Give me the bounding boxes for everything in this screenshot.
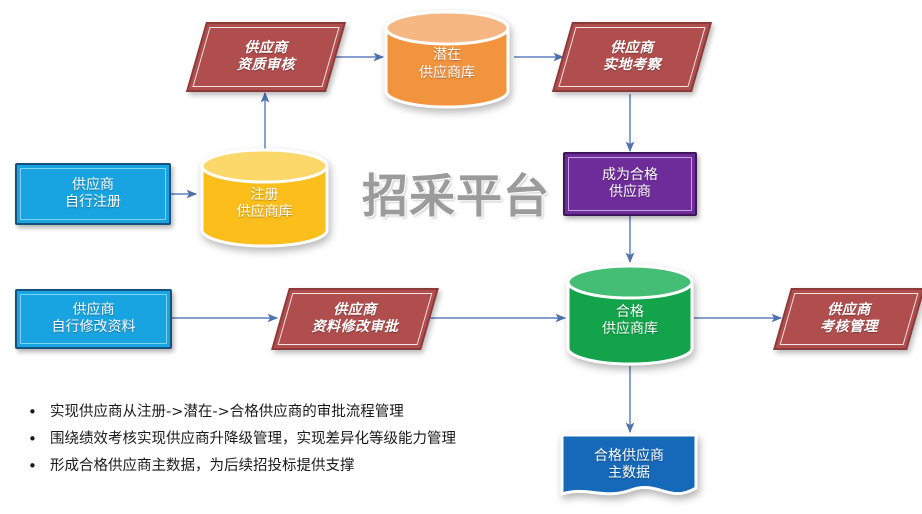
bullet-text: 实现供应商从注册->潜在->合格供应商的审批流程管理: [50, 404, 404, 421]
bullet-item: • 围绕绩效考核实现供应商升降级管理，实现差异化等级能力管理: [22, 431, 456, 458]
node-label: 供应商 考核管理: [816, 302, 882, 337]
node-qualified-supplier-db[interactable]: 合格 供应商库: [564, 262, 696, 368]
node-label: 供应商 自行注册: [61, 177, 125, 212]
node-potential-supplier-db[interactable]: 潜在 供应商库: [382, 8, 512, 111]
node-supplier-qualification-review[interactable]: 供应商 资质审核: [196, 22, 336, 92]
node-label: 注册 供应商库: [233, 187, 297, 222]
node-label: 供应商 自行修改资料: [48, 302, 140, 337]
node-label: 成为合格 供应商: [598, 167, 662, 202]
bullet-marker: •: [22, 404, 50, 421]
node-supplier-site-inspection[interactable]: 供应商 实地考察: [562, 22, 702, 92]
bullet-text: 围绕绩效考核实现供应商升降级管理，实现差异化等级能力管理: [50, 431, 456, 448]
node-label: 供应商 实地考察: [599, 40, 665, 75]
node-become-qualified-supplier[interactable]: 成为合格 供应商: [563, 152, 697, 216]
node-label: 供应商 资料修改审批: [308, 302, 403, 337]
bullet-item: • 实现供应商从注册->潜在->合格供应商的审批流程管理: [22, 404, 456, 431]
node-supplier-assessment-mgmt[interactable]: 供应商 考核管理: [782, 288, 916, 350]
bullet-item: • 形成合格供应商主数据，为后续招投标提供支撑: [22, 458, 456, 485]
bullet-text: 形成合格供应商主数据，为后续招投标提供支撑: [50, 458, 355, 475]
node-registered-supplier-db[interactable]: 注册 供应商库: [198, 146, 331, 250]
watermark-text: 招采平台: [362, 160, 550, 226]
node-label: 潜在 供应商库: [415, 47, 479, 82]
node-qualified-supplier-master-data[interactable]: 合格供应商 主数据: [559, 432, 699, 504]
bullet-list: • 实现供应商从注册->潜在->合格供应商的审批流程管理 • 围绕绩效考核实现供…: [22, 404, 456, 485]
node-label: 合格 供应商库: [598, 304, 662, 339]
node-supplier-modify-approval[interactable]: 供应商 资料修改审批: [280, 288, 430, 350]
bullet-marker: •: [22, 431, 50, 448]
node-label: 供应商 资质审核: [233, 40, 299, 75]
node-label: 合格供应商 主数据: [590, 448, 668, 483]
flowchart-canvas: 招采平台 供应商 资质审核 潜在 供应商库 供应商 实地考察 供应商 自行注册 …: [0, 0, 922, 514]
bullet-marker: •: [22, 458, 50, 475]
node-supplier-self-register[interactable]: 供应商 自行注册: [15, 163, 171, 225]
node-supplier-modify-info[interactable]: 供应商 自行修改资料: [15, 289, 172, 349]
